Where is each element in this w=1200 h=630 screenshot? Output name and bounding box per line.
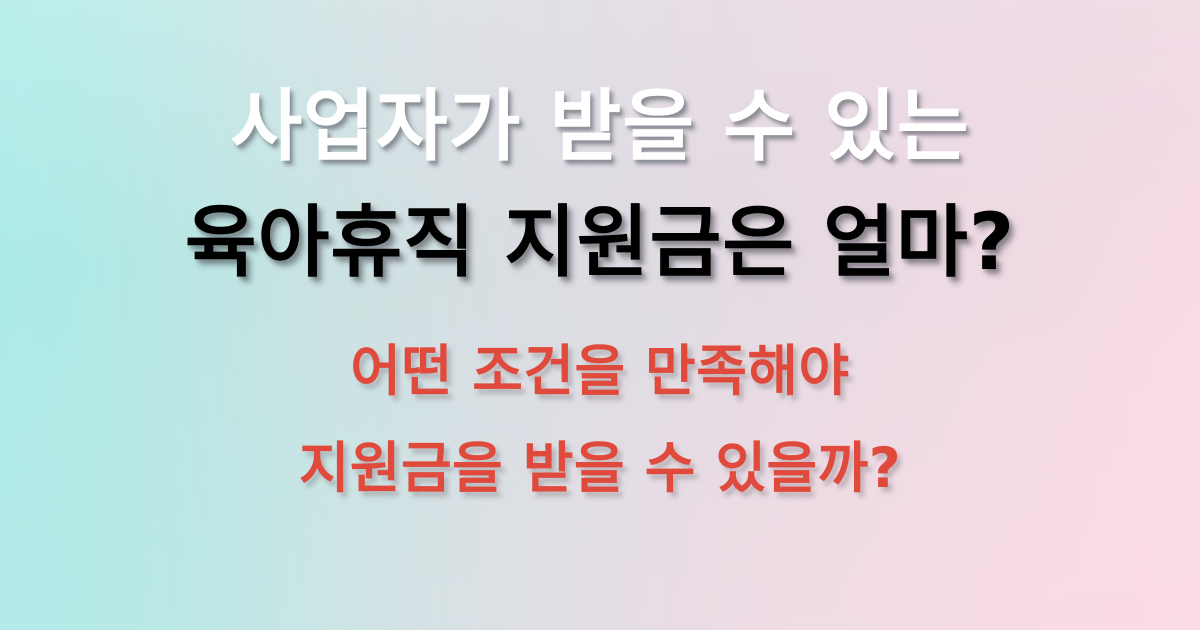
subtitle-line-1: 어떤 조건을 만족해야 — [0, 344, 1200, 399]
title-line-2: 육아휴직 지원금은 얼마? — [0, 204, 1200, 282]
text-stack: 사업자가 받을 수 있는 육아휴직 지원금은 얼마? 어떤 조건을 만족해야 지… — [0, 0, 1200, 630]
subtitle-line-2: 지원금을 받을 수 있을까? — [0, 441, 1200, 496]
title-line-1: 사업자가 받을 수 있는 — [0, 88, 1200, 166]
thumbnail-banner: 사업자가 받을 수 있는 육아휴직 지원금은 얼마? 어떤 조건을 만족해야 지… — [0, 0, 1200, 630]
